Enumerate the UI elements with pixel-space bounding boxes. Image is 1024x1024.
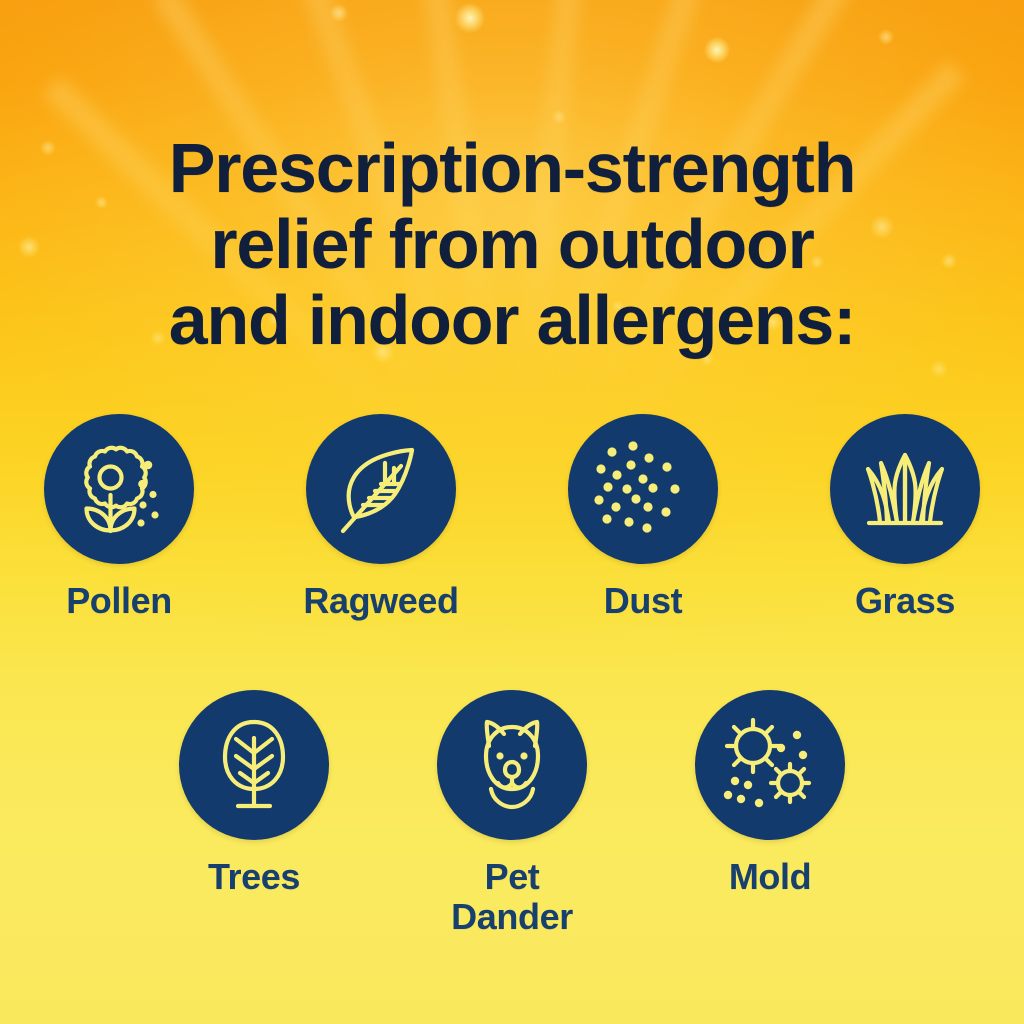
allergen-bubble-trees	[179, 690, 329, 840]
allergen-label-trees: Trees	[208, 857, 300, 897]
allergen-bubble-grass	[830, 414, 980, 564]
headline-line-2: relief from outdoor	[40, 206, 984, 282]
allergen-label-pet-dander: Pet Dander	[451, 857, 573, 937]
allergen-item-pollen[interactable]: Pollen	[44, 414, 194, 621]
allergen-item-pet-dander[interactable]: Pet Dander	[437, 690, 587, 937]
allergen-bubble-ragweed	[306, 414, 456, 564]
allergen-label-mold: Mold	[729, 857, 811, 897]
pet-face-icon	[460, 713, 564, 817]
leaf-icon	[329, 437, 433, 541]
allergen-label-dust: Dust	[604, 581, 682, 621]
allergen-label-ragweed: Ragweed	[303, 581, 458, 621]
allergen-row-1: Pollen Ragweed	[0, 414, 1024, 621]
allergen-item-dust[interactable]: Dust	[568, 414, 718, 621]
allergen-item-ragweed[interactable]: Ragweed	[306, 414, 456, 621]
bokeh-dot	[930, 360, 948, 378]
grass-blades-icon	[853, 437, 957, 541]
allergen-item-grass[interactable]: Grass	[830, 414, 980, 621]
allergen-label-grass: Grass	[855, 581, 955, 621]
allergen-label-pollen: Pollen	[66, 581, 172, 621]
allergen-bubble-pet-dander	[437, 690, 587, 840]
headline-line-1: Prescription-strength	[40, 130, 984, 206]
bokeh-dot	[552, 110, 566, 124]
allergen-row-2: Trees	[0, 690, 1024, 937]
bokeh-dot	[704, 37, 730, 63]
bokeh-dot	[455, 3, 485, 33]
allergen-item-mold[interactable]: Mold	[695, 690, 845, 937]
headline-line-3: and indoor allergens:	[40, 282, 984, 358]
mold-spores-icon	[718, 713, 822, 817]
flower-pollen-icon	[67, 437, 171, 541]
allergen-bubble-pollen	[44, 414, 194, 564]
allergen-item-trees[interactable]: Trees	[179, 690, 329, 937]
tree-icon	[202, 713, 306, 817]
allergen-bubble-mold	[695, 690, 845, 840]
bokeh-dot	[330, 4, 348, 22]
dust-particles-icon	[591, 437, 695, 541]
allergen-bubble-dust	[568, 414, 718, 564]
allergen-infographic: Prescription-strength relief from outdoo…	[0, 0, 1024, 1024]
bokeh-dot	[878, 29, 894, 45]
page-title: Prescription-strength relief from outdoo…	[0, 130, 1024, 358]
